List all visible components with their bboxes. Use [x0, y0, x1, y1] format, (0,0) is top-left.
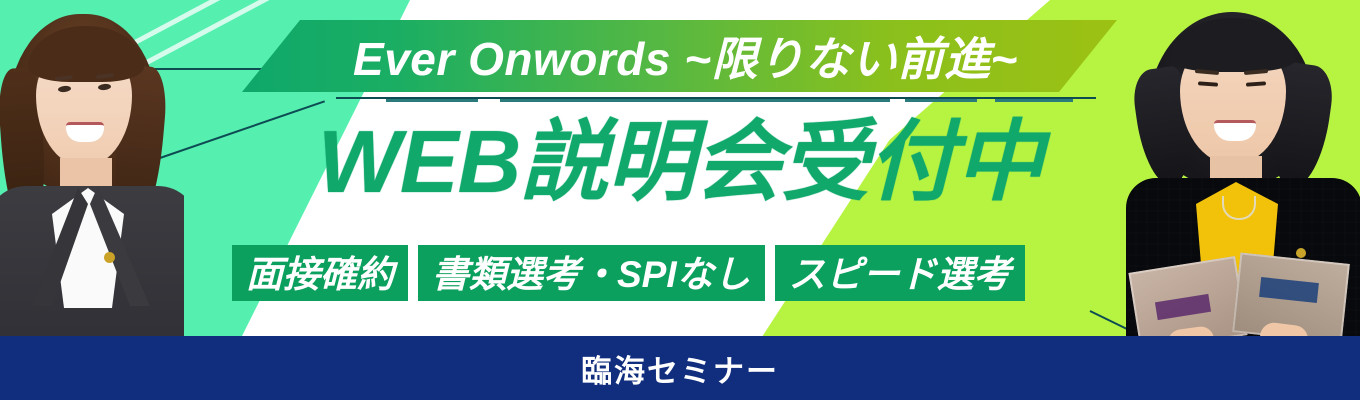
company-name: 臨海セミナー [581, 346, 779, 391]
smile-shape [66, 122, 104, 142]
recruitment-banner: Ever Onwords ~限りない前進~ WEB説明会受付中 面接確約 書類選… [0, 0, 1360, 400]
underline-rule-decoration [500, 99, 890, 102]
status-badge: 面接確約 [232, 245, 408, 301]
underline-rule-decoration [995, 99, 1073, 102]
photo-right-woman-magazine [1110, 6, 1360, 342]
feature-badge-list: 面接確約 書類選考・SPIなし スピード選考 [232, 245, 1025, 301]
underline-rule-decoration [386, 99, 478, 102]
lapel-pin-icon [1296, 248, 1306, 258]
company-footer-bar: 臨海セミナー [0, 336, 1360, 400]
status-badge: 書類選考・SPIなし [418, 245, 765, 301]
photo-left-woman-suit [0, 10, 184, 342]
tagline-text: Ever Onwords ~限りない前進~ [353, 23, 1018, 89]
status-badge: スピード選考 [775, 245, 1025, 301]
lapel-pin-icon [104, 252, 115, 263]
underline-rule-decoration [905, 99, 977, 102]
tagline-ribbon: Ever Onwords ~限りない前進~ [242, 20, 1117, 92]
